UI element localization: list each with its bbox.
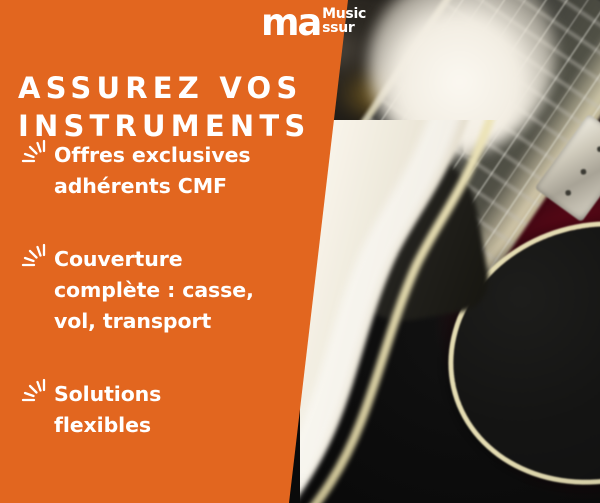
bullet-2-line-2: complète : casse,	[54, 275, 278, 306]
list-item: Solutions flexibles	[16, 379, 278, 441]
list-item-label: Offres exclusives adhérents CMF	[54, 140, 278, 202]
page-title: ASSUREZ VOS INSTRUMENTS	[18, 69, 318, 145]
headline-line-1: ASSUREZ VOS	[18, 69, 318, 107]
musicassur-logo[interactable]: ma Music ssur	[261, 7, 366, 41]
logo-mark-icon: ma	[261, 7, 320, 38]
bullet-1-line-1: Offres exclusives	[54, 140, 278, 171]
logo-wordmark: Music ssur	[322, 8, 366, 35]
bullet-2-line-1: Couverture	[54, 244, 278, 275]
benefits-list: Offres exclusives adhérents CMF Couvertu…	[16, 140, 278, 441]
bullet-3-line-1: Solutions	[54, 379, 278, 410]
list-item-label: Couverture complète : casse, vol, transp…	[54, 244, 278, 337]
sparkle-icon	[18, 243, 50, 275]
sparkle-icon	[18, 378, 50, 410]
list-item: Couverture complète : casse, vol, transp…	[16, 244, 278, 337]
sparkle-icon	[18, 139, 50, 171]
bullet-3-line-2: flexibles	[54, 410, 278, 441]
list-item-label: Solutions flexibles	[54, 379, 278, 441]
bullet-2-line-3: vol, transport	[54, 306, 278, 337]
advertisement-banner: ma Music ssur ASSUREZ VOS INSTRUMENTS Of…	[0, 0, 600, 503]
logo-line-ssur: ssur	[322, 22, 366, 35]
bullet-1-line-2: adhérents CMF	[54, 171, 278, 202]
list-item: Offres exclusives adhérents CMF	[16, 140, 278, 202]
